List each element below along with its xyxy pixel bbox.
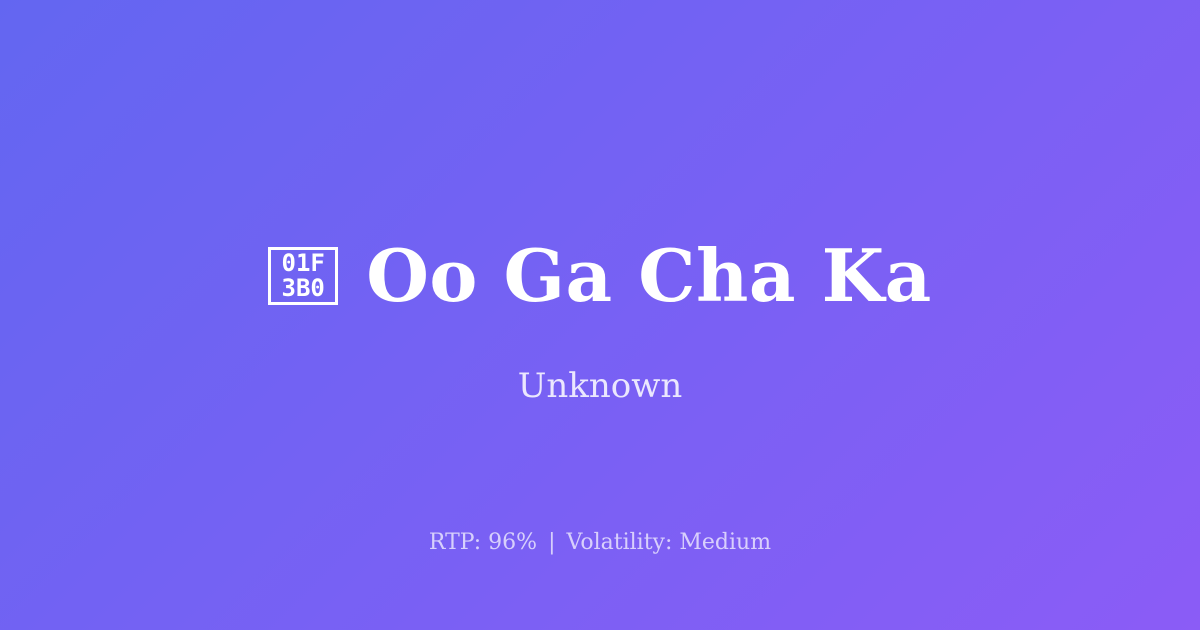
stats-separator: | <box>544 530 559 555</box>
slot-machine-icon: 01F 3B0 <box>268 247 338 305</box>
volatility-value: Volatility: Medium <box>567 530 772 555</box>
game-preview-card: 01F 3B0 Oo Ga Cha Ka Unknown RTP: 96% | … <box>0 0 1200 630</box>
game-provider: Unknown <box>0 362 1200 410</box>
slot-machine-icon-codepoint-low: 3B0 <box>282 276 325 301</box>
slot-machine-icon-codepoint-high: 01F <box>282 251 325 276</box>
title-row: 01F 3B0 Oo Ga Cha Ka <box>0 232 1200 320</box>
game-title: Oo Ga Cha Ka <box>366 236 932 316</box>
game-stats: RTP: 96% | Volatility: Medium <box>0 528 1200 558</box>
rtp-value: RTP: 96% <box>429 530 537 555</box>
